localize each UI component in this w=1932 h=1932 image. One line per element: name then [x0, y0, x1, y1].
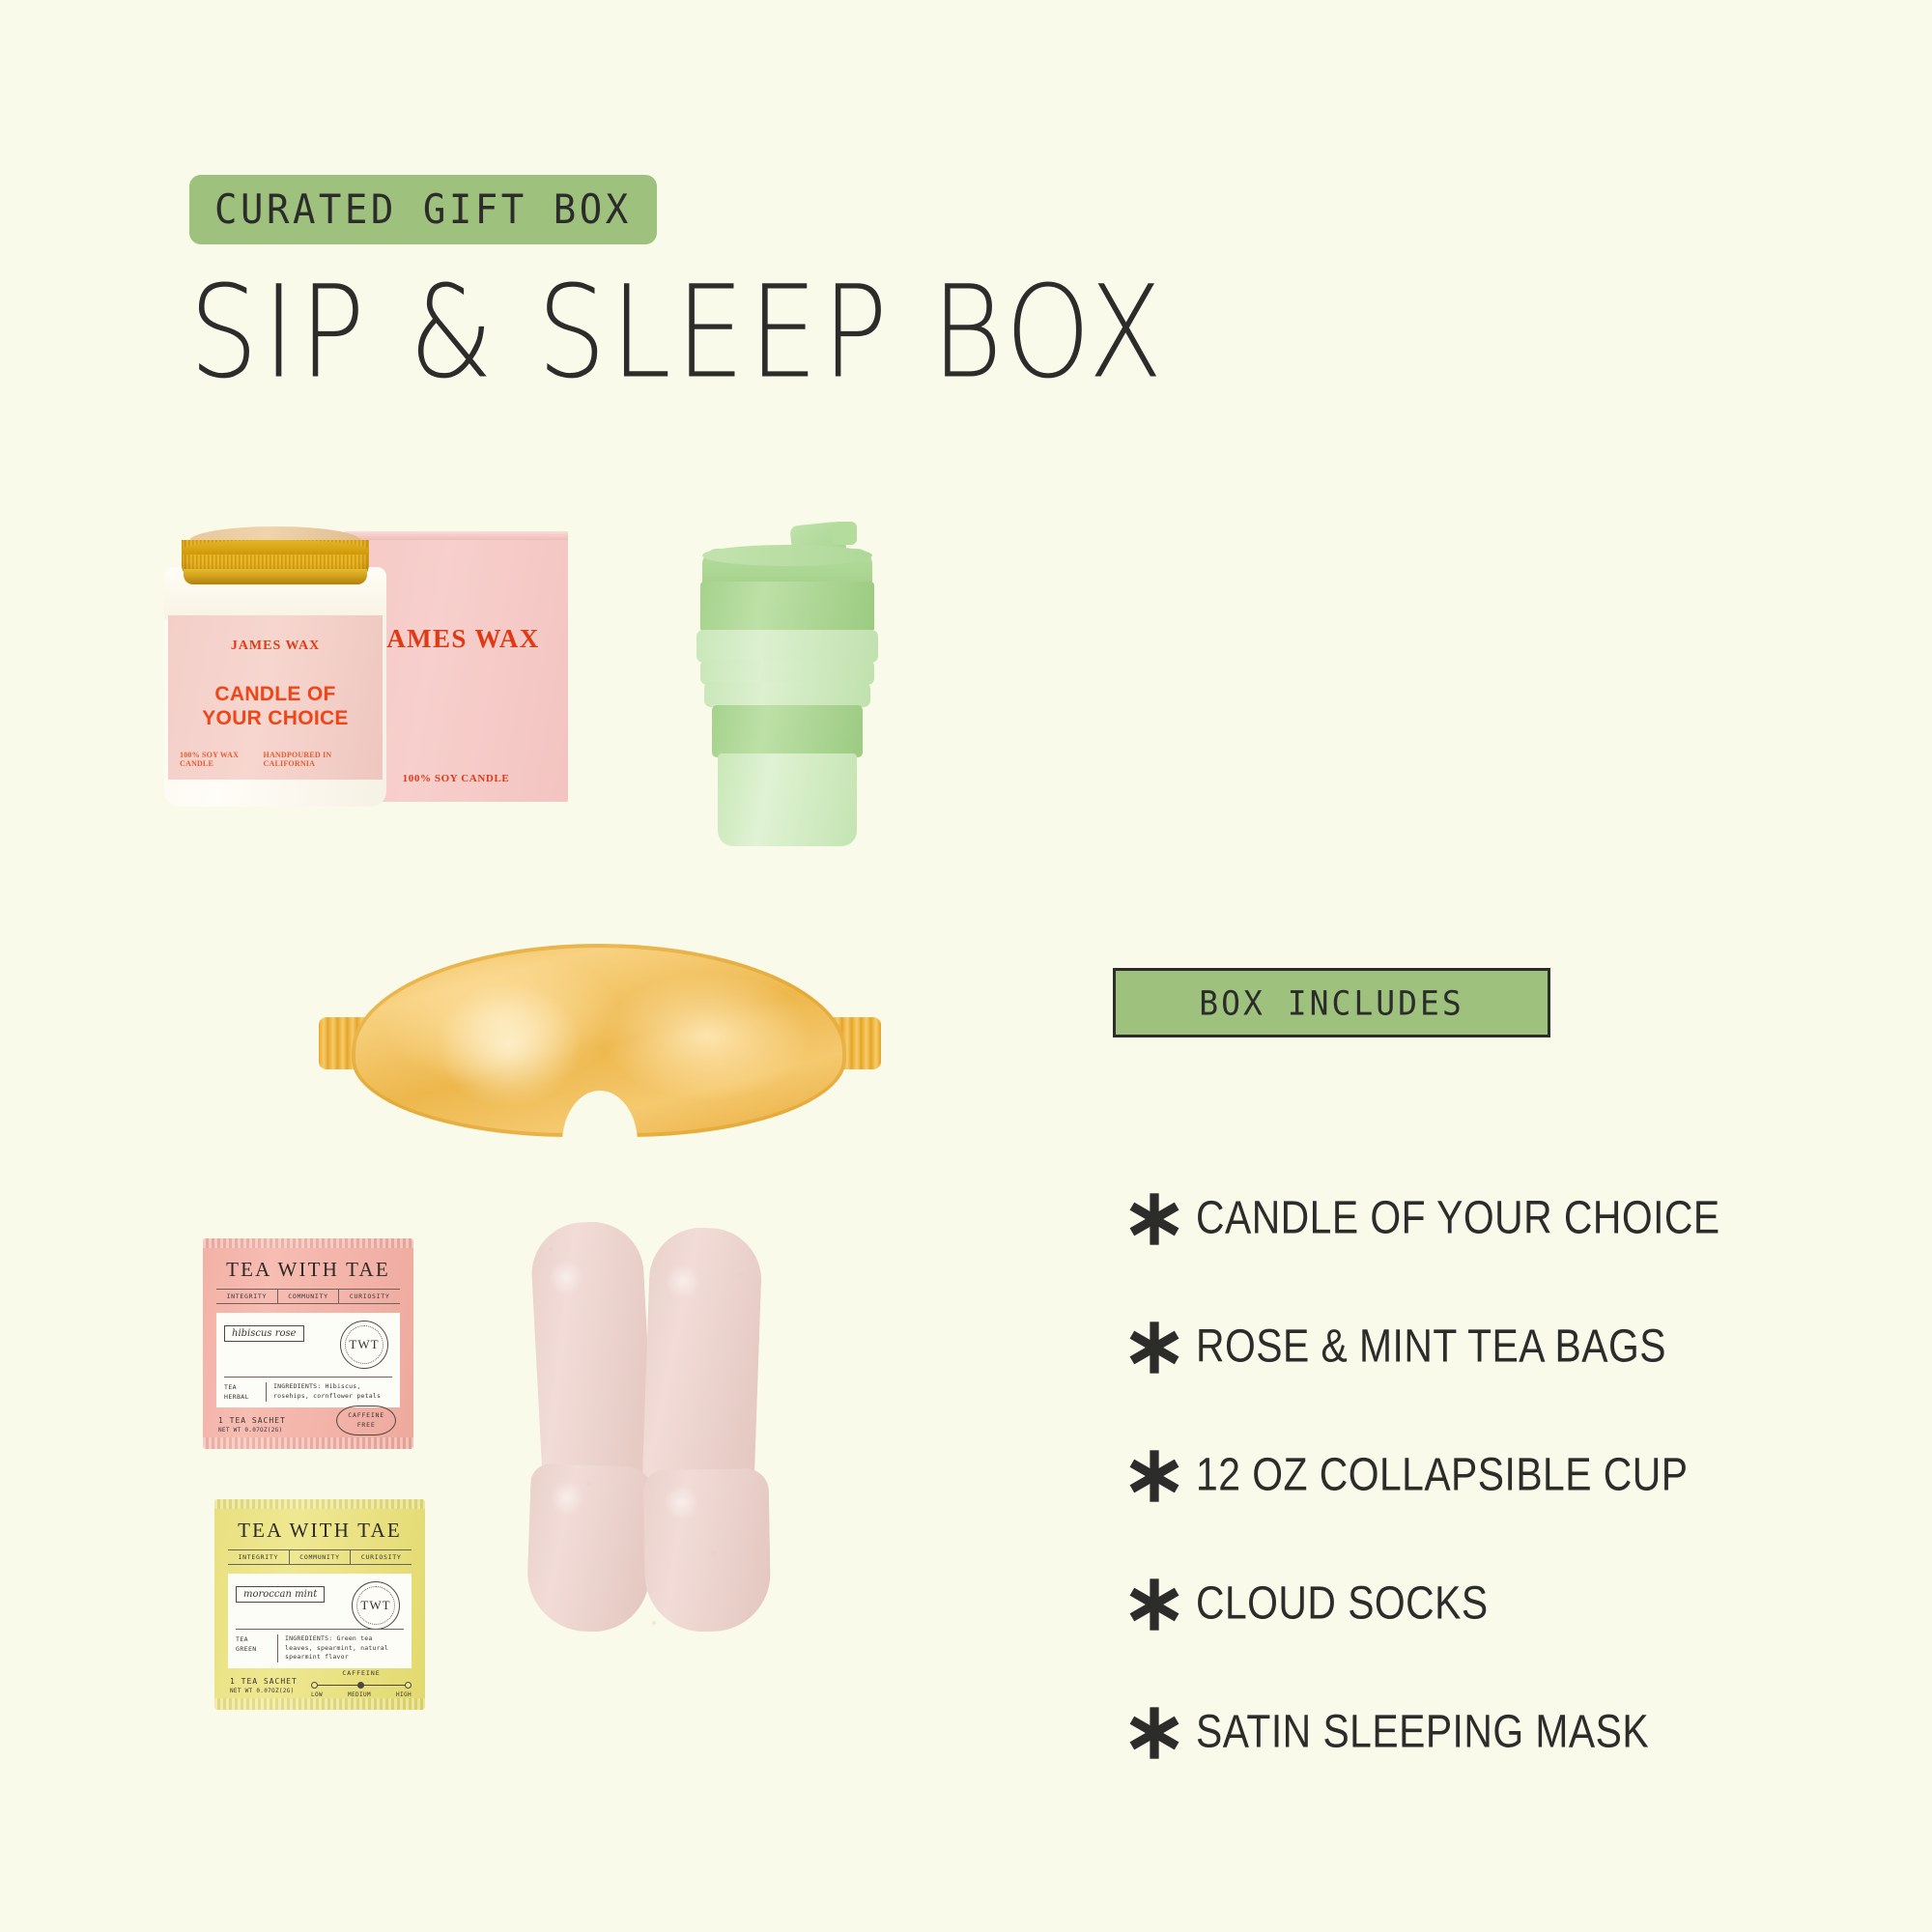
candle-foot-left: 100% SOY WAX CANDLE: [180, 751, 264, 768]
candle-headline-line-1: CANDLE OF: [202, 683, 348, 707]
product-tea-sachet-hibiscus-rose: TEA WITH TAE INTEGRITY COMMUNITY CURIOSI…: [203, 1238, 413, 1449]
tea-yellow-values: INTEGRITY COMMUNITY CURIOSITY: [228, 1549, 412, 1565]
tea-yellow-value-3: CURIOSITY: [351, 1550, 412, 1564]
mask-body: [352, 944, 846, 1137]
eyebrow-label: CURATED GIFT BOX: [214, 186, 632, 234]
list-item: 12 OZ COLLAPSIBLE CUP: [1113, 1411, 1847, 1540]
mask-nose-notch: [562, 1091, 638, 1143]
product-cloud-socks: [526, 1222, 836, 1647]
asterisk-icon: [1113, 1577, 1196, 1633]
product-collapsible-cup: [691, 522, 884, 874]
tea-pink-card: hibiscus rose TWT TEA HERBAL INGREDIENTS…: [216, 1313, 400, 1407]
tea-yellow-caffeine-labels: LOW MEDIUM HIGH: [311, 1691, 412, 1698]
tea-yellow-caffeine-dot-low: [311, 1682, 318, 1689]
asterisk-icon: [1113, 1705, 1196, 1761]
tea-pink-caffeine-badge: CAFFEINE FREE: [336, 1406, 396, 1435]
asterisk-icon: [1113, 1448, 1196, 1504]
product-tea-sachet-moroccan-mint: TEA WITH TAE INTEGRITY COMMUNITY CURIOSI…: [214, 1499, 425, 1710]
tea-pink-quantity: 1 TEA SACHET: [218, 1416, 286, 1425]
tea-yellow-type-line-2: GREEN: [236, 1644, 277, 1654]
tea-pink-caffeine-line-2: FREE: [348, 1421, 384, 1430]
tea-yellow-type-line-1: TEA: [236, 1634, 277, 1644]
tea-pink-type-line-2: HERBAL: [224, 1392, 266, 1402]
tea-pink-net-weight: NET WT 0.07OZ(2G): [218, 1427, 286, 1434]
cup-upper-body: [700, 582, 874, 632]
tea-yellow-caffeine-scale: CAFFEINE LOW MEDIUM HIGH: [311, 1669, 412, 1698]
cup-lid-surface: [702, 545, 872, 566]
cup-collapse-ring-3: [704, 682, 870, 707]
tea-yellow-ingredients: INGREDIENTS: Green tea leaves, spearmint…: [278, 1634, 404, 1662]
tea-pink-type: TEA HERBAL: [224, 1382, 267, 1402]
include-label: SATIN SLEEPING MASK: [1196, 1706, 1649, 1759]
tea-yellow-value-2: COMMUNITY: [290, 1550, 352, 1564]
tea-yellow-seal-ring: [356, 1586, 395, 1625]
tea-yellow-level-low: LOW: [311, 1691, 323, 1698]
tea-pink-value-2: COMMUNITY: [278, 1290, 340, 1303]
tea-yellow-caffeine-track: [311, 1681, 412, 1690]
box-includes-badge: BOX INCLUDES: [1113, 968, 1550, 1037]
include-label: 12 OZ COLLAPSIBLE CUP: [1196, 1449, 1688, 1502]
sock-left-foot: [526, 1463, 653, 1634]
candle-jar-label: JAMES WAX CANDLE OF YOUR CHOICE 100% SOY…: [168, 615, 383, 780]
list-item: CLOUD SOCKS: [1113, 1540, 1847, 1668]
gift-box-infographic: CURATED GIFT BOX SIP & SLEEP BOX JAMES W…: [0, 0, 1932, 1932]
tea-yellow-quantity: 1 TEA SACHET: [230, 1677, 298, 1686]
list-item: SATIN SLEEPING MASK: [1113, 1668, 1847, 1797]
tea-yellow-caffeine-dot-high: [405, 1682, 412, 1689]
tea-yellow-level-medium: MEDIUM: [348, 1691, 371, 1698]
candle-jar-headline: CANDLE OF YOUR CHOICE: [202, 683, 348, 731]
box-includes-list: CANDLE OF YOUR CHOICE ROSE & MINT TEA BA…: [1113, 1154, 1847, 1797]
tea-yellow-net-weight: NET WT 0.07OZ(2G): [230, 1688, 298, 1694]
sock-right-foot: [643, 1468, 772, 1633]
sock-right-leg: [641, 1226, 763, 1502]
tea-yellow-type: TEA GREEN: [236, 1634, 278, 1662]
tea-yellow-level-high: HIGH: [396, 1691, 412, 1698]
cup-mid-body: [712, 705, 863, 757]
include-label: CLOUD SOCKS: [1196, 1577, 1489, 1631]
tea-yellow-caffeine-caption: CAFFEINE: [311, 1669, 412, 1677]
tea-yellow-quantity-block: 1 TEA SACHET NET WT 0.07OZ(2G): [230, 1677, 298, 1694]
candle-jar-footer: 100% SOY WAX CANDLE HANDPOURED IN CALIFO…: [180, 751, 371, 768]
tea-pink-seal-icon: TWT: [340, 1321, 388, 1369]
candle-jar-brand: JAMES WAX: [231, 639, 320, 654]
cup-lid-tab-stub: [832, 522, 857, 545]
asterisk-icon: [1113, 1191, 1196, 1247]
tea-pink-flavor: hibiscus rose: [224, 1325, 304, 1342]
product-candle: JAMES WAX 100% SOY CANDLE JAMES WAX CAND…: [164, 526, 580, 855]
tea-yellow-caffeine-dot-medium: [357, 1682, 364, 1689]
mask-highlight: [437, 982, 582, 1108]
tea-pink-ingredients-block: TEA HERBAL INGREDIENTS: Hibiscus, rosehi…: [224, 1377, 392, 1402]
box-includes-heading: BOX INCLUDES: [1199, 982, 1463, 1022]
candle-foot-right: HANDPOURED IN CALIFORNIA: [264, 751, 371, 768]
eyebrow-badge: CURATED GIFT BOX: [189, 175, 657, 244]
tea-pink-caffeine-line-1: CAFFEINE: [348, 1411, 384, 1420]
tea-yellow-ingredients-block: TEA GREEN INGREDIENTS: Green tea leaves,…: [236, 1629, 404, 1662]
tea-yellow-brand: TEA WITH TAE: [228, 1519, 412, 1543]
tea-pink-brand: TEA WITH TAE: [216, 1258, 400, 1282]
tea-pink-value-1: INTEGRITY: [216, 1290, 278, 1303]
asterisk-icon: [1113, 1320, 1196, 1376]
list-item: CANDLE OF YOUR CHOICE: [1113, 1154, 1847, 1283]
tea-pink-values: INTEGRITY COMMUNITY CURIOSITY: [216, 1289, 400, 1304]
tea-pink-seal-ring: [345, 1325, 384, 1364]
candle-jar: JAMES WAX CANDLE OF YOUR CHOICE 100% SOY…: [164, 567, 386, 807]
cup-base: [718, 753, 857, 846]
candle-headline-line-2: YOUR CHOICE: [202, 707, 348, 731]
candle-lid: [182, 526, 369, 584]
include-label: ROSE & MINT TEA BAGS: [1196, 1321, 1666, 1374]
include-label: CANDLE OF YOUR CHOICE: [1196, 1192, 1720, 1245]
candle-lid-rim: [184, 569, 367, 584]
tea-pink-ingredients: INGREDIENTS: Hibiscus, rosehips, cornflo…: [267, 1382, 392, 1402]
tea-pink-quantity-block: 1 TEA SACHET NET WT 0.07OZ(2G): [218, 1416, 286, 1434]
sock-left-leg: [529, 1219, 655, 1495]
product-sleep-mask: [319, 923, 879, 1145]
cup-collapse-ring-1: [696, 630, 878, 663]
tea-pink-value-3: CURIOSITY: [339, 1290, 400, 1303]
tea-pink-type-line-1: TEA: [224, 1382, 266, 1392]
list-item: ROSE & MINT TEA BAGS: [1113, 1283, 1847, 1411]
page-title: SIP & SLEEP BOX: [189, 259, 1167, 407]
tea-yellow-flavor: moroccan mint: [236, 1586, 325, 1603]
tea-yellow-value-1: INTEGRITY: [228, 1550, 290, 1564]
tea-yellow-card: moroccan mint TWT TEA GREEN INGREDIENTS:…: [228, 1574, 412, 1668]
tea-yellow-seal-icon: TWT: [352, 1581, 400, 1630]
